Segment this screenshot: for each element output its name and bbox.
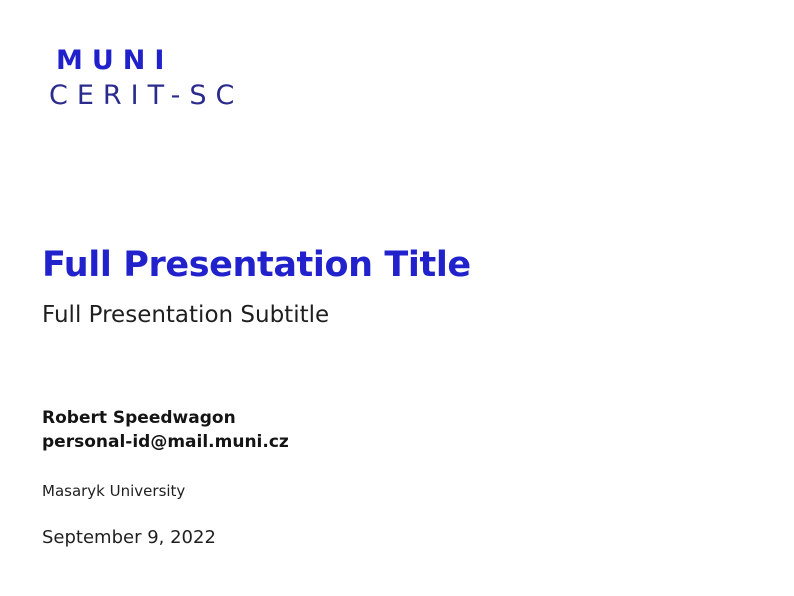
page-title: Full Presentation Title [42, 243, 742, 287]
muni-cerit-sc-logo: MUNI CERIT-SC [42, 46, 362, 112]
title-block: Full Presentation Title Full Presentatio… [42, 243, 742, 331]
author-meta-block: Robert Speedwagon personal-id@mail.muni.… [42, 406, 562, 550]
presentation-date: September 9, 2022 [42, 526, 562, 550]
logo-cerit-sc-wordmark: CERIT-SC [42, 80, 362, 112]
logo-muni-wordmark: MUNI [42, 46, 362, 76]
author-email: personal-id@mail.muni.cz [42, 430, 562, 454]
page-subtitle: Full Presentation Subtitle [42, 299, 742, 331]
author-name: Robert Speedwagon [42, 406, 562, 430]
presentation-slide: MUNI CERIT-SC Full Presentation Title Fu… [0, 0, 794, 596]
author-affiliation: Masaryk University [42, 480, 562, 502]
